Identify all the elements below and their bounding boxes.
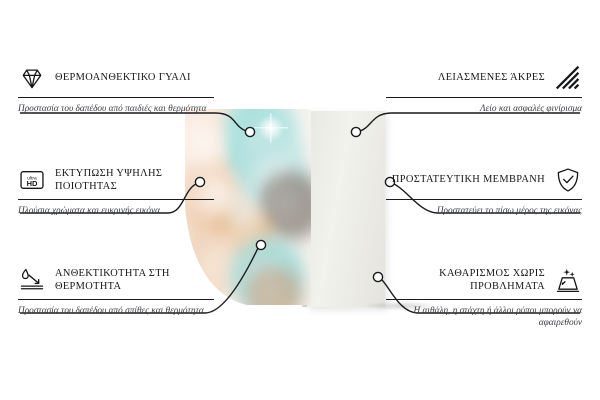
feature-description: Προστασία του δαπέδου από παιδιές και θε…	[18, 103, 214, 115]
feature-title: ΘΕΡΜΟΑΝΘΕΚΤΙΚΟ ΓΥΑΛΙ	[55, 71, 191, 84]
panel-back-board	[307, 111, 385, 307]
feature-header: ΑΝΘΕΚΤΙΚΟΤΗΤΑ ΣΤΗ ΘΕΡΜΟΤΗΤΑ	[18, 266, 214, 294]
feature-header: ΚΑΘΑΡΙΣΜΟΣ ΧΩΡΙΣ ΠΡΟΒΛΗΜΑΤΑ	[386, 266, 582, 294]
feature-divider	[18, 97, 214, 98]
svg-text:HD: HD	[27, 179, 38, 188]
feature-high-quality-print: ultra HD ΕΚΤΥΠΩΣΗ ΥΨΗΛΗΣ ΠΟΙΟΤΗΤΑΣ Πλούσ…	[18, 166, 214, 217]
feature-divider	[18, 199, 214, 200]
feature-divider	[386, 97, 582, 98]
sparkle-hob-icon	[554, 266, 582, 294]
feature-title: ΑΝΘΕΚΤΙΚΟΤΗΤΑ ΣΤΗ ΘΕΡΜΟΤΗΤΑ	[55, 267, 214, 293]
diagonal-stripes-icon	[554, 64, 582, 92]
feature-header: ultra HD ΕΚΤΥΠΩΣΗ ΥΨΗΛΗΣ ΠΟΙΟΤΗΤΑΣ	[18, 166, 214, 194]
feature-easy-cleaning: ΚΑΘΑΡΙΣΜΟΣ ΧΩΡΙΣ ΠΡΟΒΛΗΜΑΤΑ Η αιθάλη, η …	[386, 266, 582, 329]
ultra-hd-icon: ultra HD	[18, 166, 46, 194]
feature-divider	[386, 299, 582, 300]
diamond-icon	[18, 64, 46, 92]
feature-heat-resistant-glass: ΘΕΡΜΟΑΝΘΕΚΤΙΚΟ ΓΥΑΛΙ Προστασία του δαπέδ…	[18, 64, 214, 115]
feature-protective-membrane: ΠΡΟΣΤΑΤΕΥΤΙΚΗ ΜΕΜΒΡΑΝΗ Προστατεύει το πί…	[386, 166, 582, 217]
feature-description: Λείο και ασφαλές φινίρισμα	[386, 103, 582, 115]
feature-header: ΠΡΟΣΤΑΤΕΥΤΙΚΗ ΜΕΜΒΡΑΝΗ	[386, 166, 582, 194]
feature-divider	[386, 199, 582, 200]
feature-title: ΕΚΤΥΠΩΣΗ ΥΨΗΛΗΣ ΠΟΙΟΤΗΤΑΣ	[55, 167, 214, 193]
feature-description: Πλούσια χρώματα και ευκρινής εικόνα	[18, 205, 214, 217]
flame-deflect-icon	[18, 266, 46, 294]
infographic-canvas: ΘΕΡΜΟΑΝΘΕΚΤΙΚΟ ΓΥΑΛΙ Προστασία του δαπέδ…	[0, 0, 600, 400]
feature-header: ΛΕΙΑΣΜΕΝΕΣ ΆΚΡΕΣ	[386, 64, 582, 92]
feature-description: Προστασία του δαπέδου από σπίθες και θερ…	[18, 305, 214, 317]
feature-heat-durability: ΑΝΘΕΚΤΙΚΟΤΗΤΑ ΣΤΗ ΘΕΡΜΟΤΗΤΑ Προστασία το…	[18, 266, 214, 317]
shield-check-icon	[554, 166, 582, 194]
feature-title: ΛΕΙΑΣΜΕΝΕΣ ΆΚΡΕΣ	[438, 71, 545, 84]
feature-title: ΠΡΟΣΤΑΤΕΥΤΙΚΗ ΜΕΜΒΡΑΝΗ	[392, 173, 545, 186]
feature-title: ΚΑΘΑΡΙΣΜΟΣ ΧΩΡΙΣ ΠΡΟΒΛΗΜΑΤΑ	[386, 267, 545, 293]
feature-polished-edges: ΛΕΙΑΣΜΕΝΕΣ ΆΚΡΕΣ Λείο και ασφαλές φινίρι…	[386, 64, 582, 115]
feature-description: Η αιθάλη, η στάχτη ή άλλοι ρύποι μπορούν…	[386, 305, 582, 329]
feature-description: Προστατεύει το πίσω μέρος της εικόνας	[386, 205, 582, 217]
feature-header: ΘΕΡΜΟΑΝΘΕΚΤΙΚΟ ΓΥΑΛΙ	[18, 64, 214, 92]
feature-divider	[18, 299, 214, 300]
